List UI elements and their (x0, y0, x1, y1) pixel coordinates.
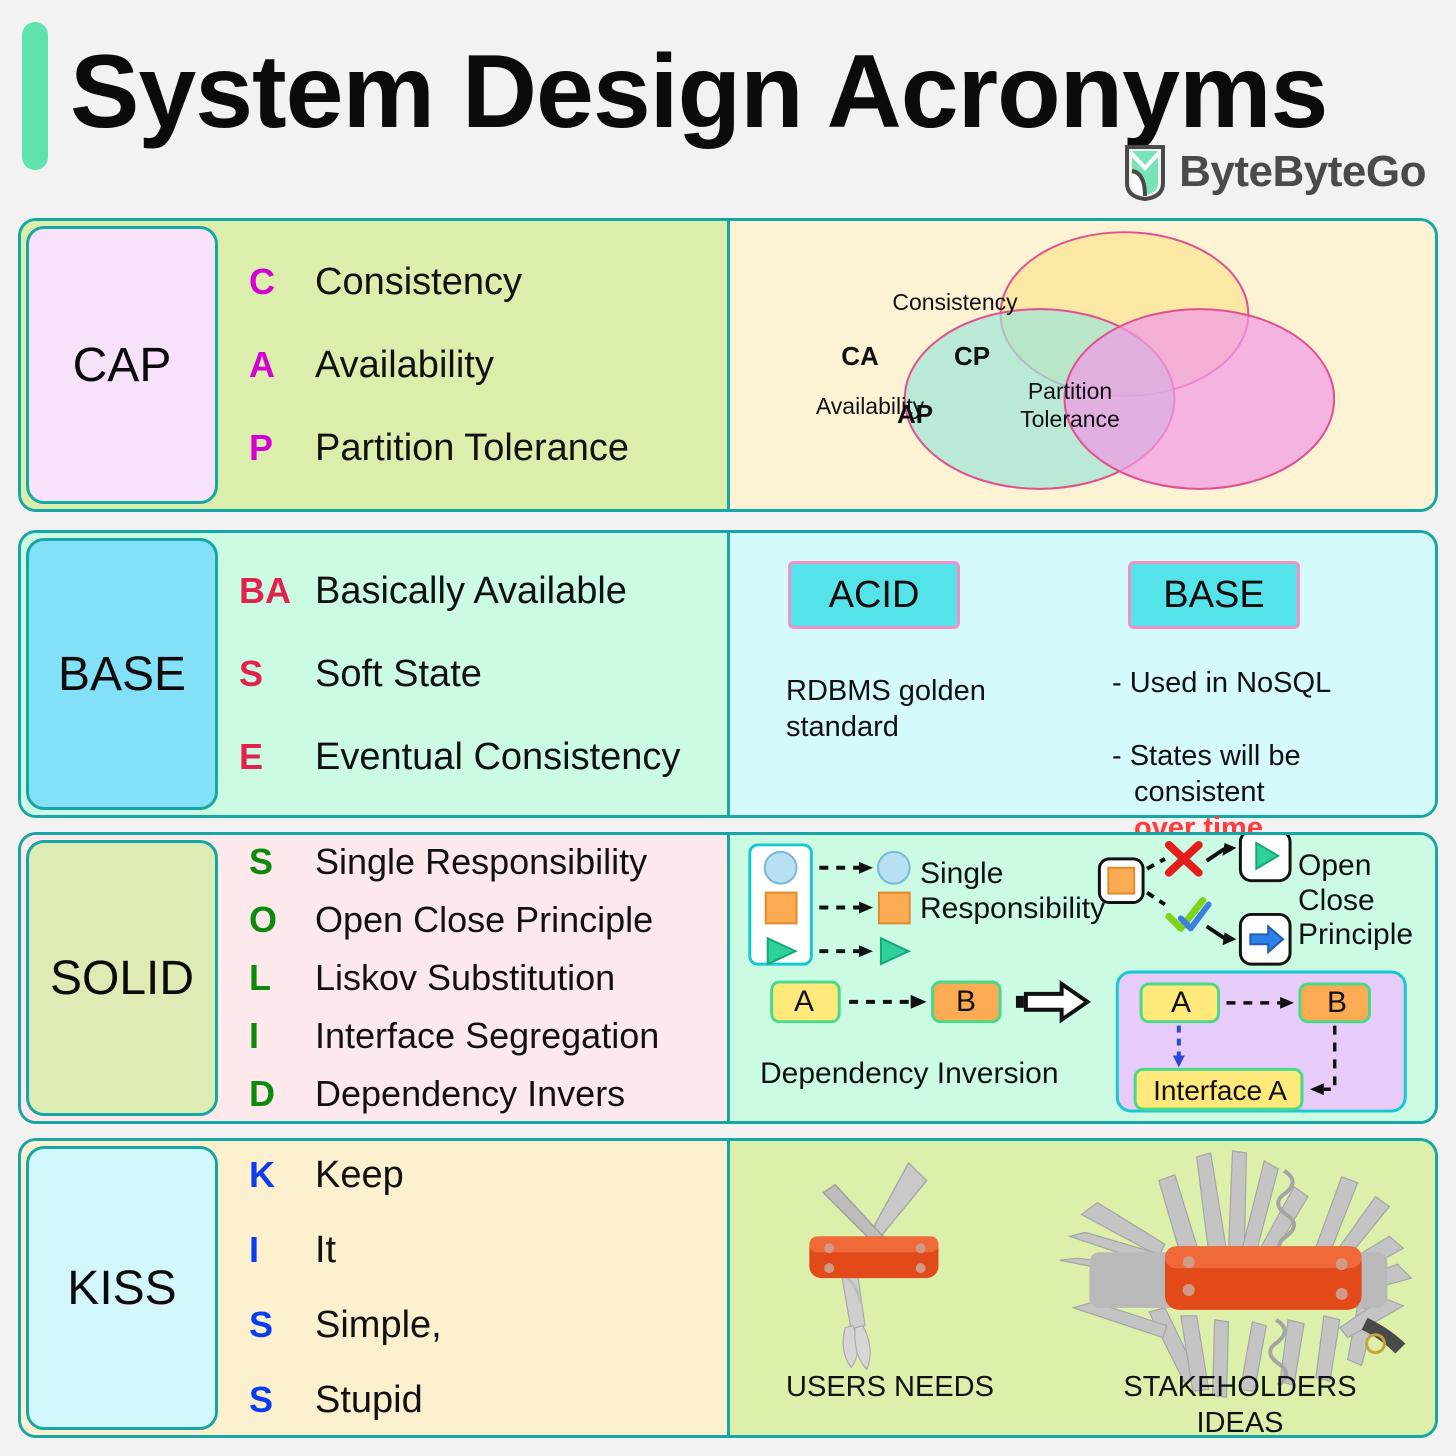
node-b-label-inverted: B (1302, 986, 1372, 1021)
acronym-key: O (249, 899, 315, 941)
list-item: K Keep (249, 1154, 717, 1197)
list-item: P Partition Tolerance (249, 427, 717, 470)
acronym-key: K (249, 1154, 315, 1196)
venn-label-ap: AP (885, 399, 945, 430)
list-item: I It (249, 1229, 717, 1272)
badge-cap: CAP (26, 226, 218, 504)
kiss-acronym-list: K Keep I It S Simple, S Stupid (249, 1141, 717, 1435)
acronym-key: P (249, 427, 315, 469)
acid-description: RDBMS golden standard (786, 673, 1066, 746)
acronym-key: S (249, 841, 315, 883)
brand-logo: ByteByteGo (1123, 143, 1426, 201)
accent-bar (22, 22, 48, 170)
acronym-label: Liskov Substitution (315, 957, 615, 999)
acronym-label: Eventual Consistency (315, 736, 680, 779)
base-line-1: - Used in NoSQL (1112, 667, 1331, 699)
solid-acronym-list: S Single Responsibility O Open Close Pri… (249, 835, 717, 1121)
base-acronym-list: BA Basically Available S Soft State E Ev… (239, 533, 717, 815)
list-item: S Single Responsibility (249, 841, 717, 883)
list-item: S Soft State (239, 653, 717, 696)
solid-left-pane: SOLID S Single Responsibility O Open Clo… (21, 835, 727, 1121)
list-item: C Consistency (249, 261, 717, 304)
kiss-left-pane: KISS K Keep I It S Simple, S (21, 1141, 727, 1435)
venn-label-cp: CP (942, 341, 1002, 372)
cap-acronym-list: C Consistency A Availability P Partition… (249, 221, 717, 509)
venn-label-ca: CA (830, 341, 890, 372)
list-item: I Interface Segregation (249, 1015, 717, 1057)
brand-name: ByteByteGo (1179, 147, 1426, 197)
infographic-page: System Design Acronyms ByteByteGo CAP C … (0, 0, 1456, 1456)
section-solid: SOLID S Single Responsibility O Open Clo… (18, 832, 1438, 1124)
acronym-key: BA (239, 570, 315, 612)
list-item: E Eventual Consistency (239, 736, 717, 779)
bytebytego-mark-icon (1123, 143, 1167, 201)
list-item: D Dependency Invers (249, 1073, 717, 1115)
acronym-key: C (249, 261, 315, 303)
acronym-label: Stupid (315, 1379, 423, 1422)
solid-right-pane: Single Responsibility Open Close Princip… (727, 835, 1435, 1121)
list-item: S Stupid (249, 1379, 717, 1422)
acronym-label: Open Close Principle (315, 899, 653, 941)
badge-solid: SOLID (26, 840, 218, 1116)
acronym-label: Consistency (315, 261, 522, 304)
node-a-label-inverted: A (1142, 986, 1220, 1021)
base-line-2: - States will be (1112, 740, 1301, 772)
acronym-label: Availability (315, 344, 494, 387)
header: System Design Acronyms ByteByteGo (0, 0, 1456, 212)
list-item: A Availability (249, 344, 717, 387)
acronym-key: S (249, 1304, 315, 1346)
acronym-key: L (249, 957, 315, 999)
list-item: S Simple, (249, 1304, 717, 1347)
caption-stakeholders-ideas: STAKEHOLDERS IDEAS (1070, 1369, 1410, 1442)
cap-left-pane: CAP C Consistency A Availability P Parti… (21, 221, 727, 509)
acronym-key: S (249, 1379, 315, 1421)
base-description: - Used in NoSQL - States will be consist… (1112, 665, 1412, 846)
acronym-label: Keep (315, 1154, 404, 1197)
node-b-label: B (932, 985, 1000, 1020)
section-cap: CAP C Consistency A Availability P Parti… (18, 218, 1438, 512)
acronym-label: Simple, (315, 1304, 442, 1347)
pill-base: BASE (1128, 561, 1300, 629)
node-a-label: A (770, 985, 838, 1020)
acronym-label: Soft State (315, 653, 482, 696)
simple-knife-icon (809, 1163, 938, 1370)
label-open-close: Open Close Principle (1298, 849, 1435, 953)
venn-label-partition-tolerance: PartitionTolerance (970, 378, 1170, 433)
base-line-3: consistent (1134, 774, 1265, 810)
acronym-label: Single Responsibility (315, 841, 647, 883)
pill-acid: ACID (788, 561, 960, 629)
acronym-key: D (249, 1073, 315, 1115)
acid-line-2: standard (786, 711, 899, 743)
base-left-pane: BASE BA Basically Available S Soft State… (21, 533, 727, 815)
acronym-label: Dependency Invers (315, 1073, 625, 1115)
acronym-key: E (239, 736, 315, 778)
acronym-key: I (249, 1015, 315, 1057)
interface-a-label: Interface A (1136, 1075, 1304, 1107)
venn-label-availability: Availability (745, 393, 995, 420)
acid-line-1: RDBMS golden (786, 675, 986, 707)
acronym-key: A (249, 344, 315, 386)
list-item: BA Basically Available (239, 570, 717, 613)
acronym-key: I (249, 1229, 315, 1271)
label-dependency-inversion: Dependency Inversion (760, 1057, 1059, 1092)
list-item: O Open Close Principle (249, 899, 717, 941)
badge-kiss: KISS (26, 1146, 218, 1430)
label-single-responsibility: Single Responsibility (920, 857, 1105, 926)
acronym-key: S (239, 653, 315, 695)
venn-label-consistency: Consistency (830, 289, 1080, 316)
kiss-right-pane: USERS NEEDS STAKEHOLDERS IDEAS (727, 1141, 1435, 1435)
badge-base: BASE (26, 538, 218, 810)
cap-venn-diagram: Consistency Availability PartitionTolera… (730, 221, 1435, 509)
base-right-pane: ACID RDBMS golden standard BASE - Used i… (727, 533, 1435, 815)
list-item: L Liskov Substitution (249, 957, 717, 999)
acronym-label: It (315, 1229, 336, 1272)
cap-right-pane: Consistency Availability PartitionTolera… (727, 221, 1435, 509)
section-kiss: KISS K Keep I It S Simple, S (18, 1138, 1438, 1438)
acronym-label: Partition Tolerance (315, 427, 629, 470)
caption-users-needs: USERS NEEDS (750, 1369, 1030, 1405)
acronym-label: Basically Available (315, 570, 627, 613)
section-base: BASE BA Basically Available S Soft State… (18, 530, 1438, 818)
complex-knife-icon (1060, 1151, 1412, 1397)
acronym-label: Interface Segregation (315, 1015, 659, 1057)
